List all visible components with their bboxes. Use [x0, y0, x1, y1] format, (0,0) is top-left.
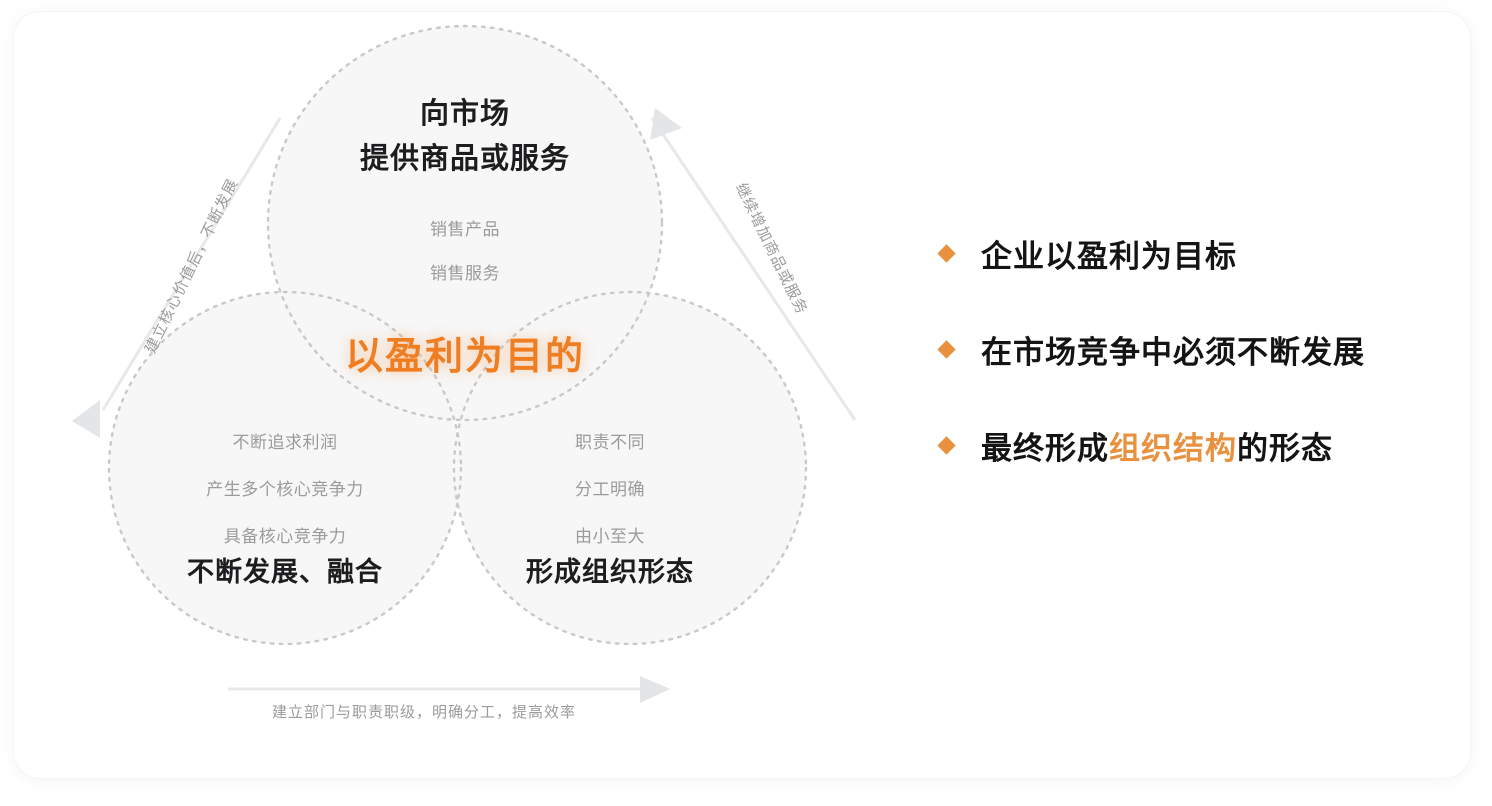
circle-title-market-line1: 向市场 — [265, 92, 665, 137]
circle-items-organization: 职责不同 分工明确 由小至大 — [490, 420, 730, 560]
list-item-text: 在市场竞争中必须不断发展 — [981, 327, 1365, 372]
circle-item: 职责不同 — [490, 420, 730, 467]
arrow-label-bottom: 建立部门与职责职级，明确分工，提高效率 — [272, 701, 576, 722]
venn-diagram: 向市场 提供商品或服务 销售产品 销售服务 以盈利为目的 不断追求利润 产生多个… — [0, 0, 900, 780]
list-item: 在市场竞争中必须不断发展 — [940, 301, 1460, 397]
key-points-list: 企业以盈利为目标 在市场竞争中必须不断发展 最终形成组织结构的形态 — [940, 205, 1460, 493]
circle-items-market: 销售产品 销售服务 — [265, 208, 665, 296]
diamond-bullet-icon — [937, 340, 955, 358]
list-item-text: 企业以盈利为目标 — [981, 231, 1237, 276]
list-item: 企业以盈利为目标 — [940, 205, 1460, 301]
circle-item: 销售服务 — [265, 252, 665, 296]
circle-title-development: 不断发展、融合 — [140, 550, 430, 589]
circle-title-market: 向市场 提供商品或服务 — [265, 92, 665, 182]
diamond-bullet-icon — [937, 244, 955, 262]
list-item-text: 最终形成组织结构的形态 — [981, 423, 1333, 468]
slide-canvas: 向市场 提供商品或服务 销售产品 销售服务 以盈利为目的 不断追求利润 产生多个… — [0, 0, 1492, 806]
circle-title-market-line2: 提供商品或服务 — [265, 137, 665, 182]
circle-item: 销售产品 — [265, 208, 665, 252]
circle-items-development: 不断追求利润 产生多个核心竞争力 具备核心竞争力 — [140, 420, 430, 560]
list-item: 最终形成组织结构的形态 — [940, 397, 1460, 493]
diamond-bullet-icon — [937, 436, 955, 454]
venn-center-highlight: 以盈利为目的 — [265, 325, 665, 380]
circle-item: 分工明确 — [490, 467, 730, 514]
circle-title-organization: 形成组织形态 — [490, 550, 730, 589]
circle-item: 不断追求利润 — [140, 420, 430, 467]
arrow-bottom — [228, 676, 670, 703]
circle-item: 产生多个核心竞争力 — [140, 467, 430, 514]
